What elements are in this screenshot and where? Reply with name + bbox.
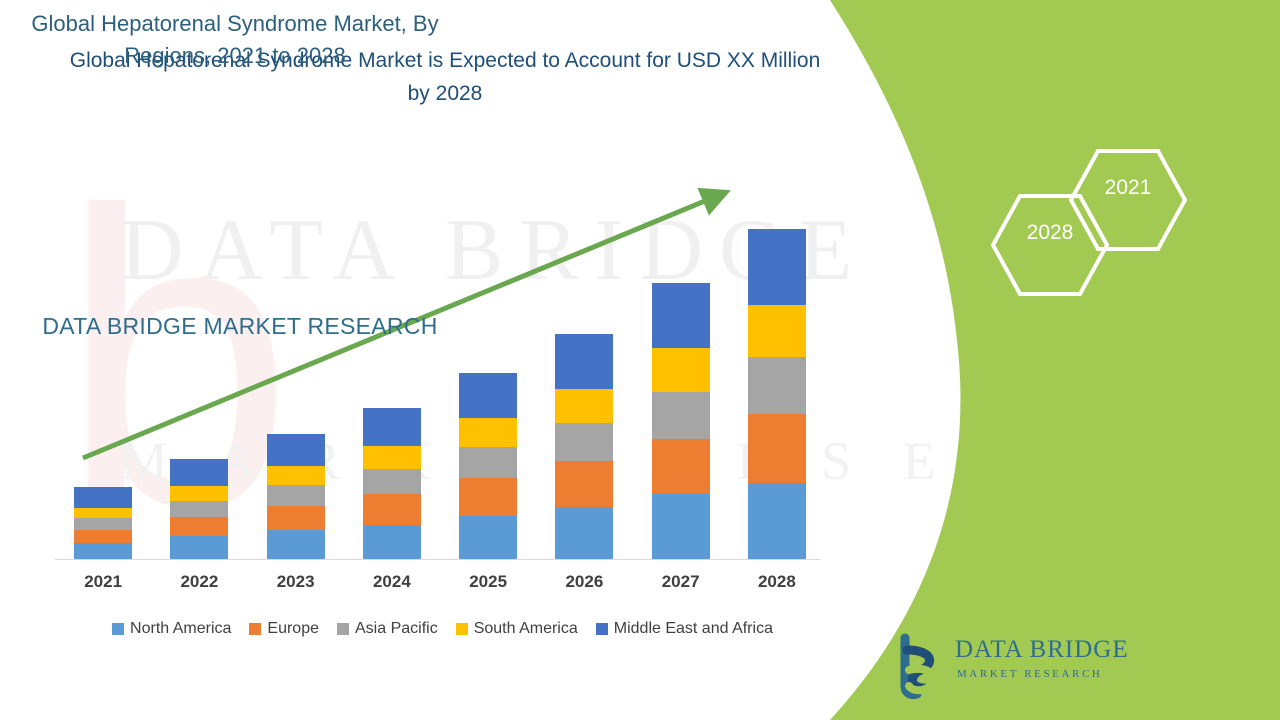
legend-label: Asia Pacific xyxy=(355,620,438,638)
bar-segment xyxy=(170,517,228,536)
x-axis-label: 2026 xyxy=(539,572,629,592)
bar-segment xyxy=(748,229,806,305)
slide-root: b DATA BRIDGE M A R K E T R E S E A R C … xyxy=(0,0,1280,720)
bar-segment xyxy=(555,334,613,389)
bar-group xyxy=(267,434,325,560)
bar-segment xyxy=(74,518,132,529)
legend-swatch-icon xyxy=(337,623,349,635)
bar-segment xyxy=(74,543,132,559)
bar-segment xyxy=(170,501,228,517)
bar-segment xyxy=(459,516,517,559)
bar-segment xyxy=(363,469,421,495)
legend-swatch-icon xyxy=(112,623,124,635)
bar-segment xyxy=(652,392,710,440)
x-axis-label: 2024 xyxy=(347,572,437,592)
legend-swatch-icon xyxy=(249,623,261,635)
x-axis-label: 2021 xyxy=(58,572,148,592)
bar-group xyxy=(459,373,517,559)
bar-segment xyxy=(652,348,710,392)
x-axis-label: 2027 xyxy=(636,572,726,592)
bar-segment xyxy=(555,389,613,423)
bar-segment xyxy=(363,525,421,559)
bar-segment xyxy=(459,447,517,478)
bar-segment xyxy=(74,508,132,518)
bar-segment xyxy=(267,485,325,506)
bar-segment xyxy=(555,423,613,461)
bar-segment xyxy=(555,507,613,559)
legend-swatch-icon xyxy=(596,623,608,635)
x-axis-label: 2028 xyxy=(732,572,822,592)
hexagon-2028-label: 2028 xyxy=(990,221,1110,245)
bar-group xyxy=(363,408,421,559)
legend-item[interactable]: North America xyxy=(112,620,231,638)
legend-swatch-icon xyxy=(456,623,468,635)
logo-mark-icon xyxy=(885,630,955,700)
bar-segment xyxy=(748,357,806,414)
bar-segment xyxy=(267,530,325,559)
right-green-panel xyxy=(830,0,1280,720)
bar-group xyxy=(170,459,228,559)
bar-segment xyxy=(459,373,517,419)
bar-segment xyxy=(748,414,806,482)
bar-segment xyxy=(363,494,421,524)
bar-segment xyxy=(170,486,228,501)
hexagon-2021-label: 2021 xyxy=(1068,176,1188,200)
bar-group xyxy=(652,283,710,559)
bar-segment xyxy=(652,283,710,348)
x-axis-labels: 20212022202320242025202620272028 xyxy=(55,572,825,598)
bar-segment xyxy=(363,446,421,469)
bar-segment xyxy=(459,478,517,516)
bar-segment xyxy=(267,466,325,485)
chart-legend: North AmericaEuropeAsia PacificSouth Ame… xyxy=(55,617,830,641)
bar-segment xyxy=(652,494,710,559)
x-axis-label: 2022 xyxy=(154,572,244,592)
bar-segment xyxy=(652,439,710,494)
legend-label: North America xyxy=(130,620,231,638)
x-axis-label: 2025 xyxy=(443,572,533,592)
bar-segment xyxy=(170,459,228,486)
bar-group xyxy=(74,487,132,559)
panel-title: Global Hepatorenal Syndrome Market, By R… xyxy=(20,8,450,72)
bar-chart-plot xyxy=(55,150,825,559)
legend-label: Europe xyxy=(267,620,319,638)
bar-segment xyxy=(74,487,132,508)
x-axis-label: 2023 xyxy=(251,572,341,592)
legend-item[interactable]: Europe xyxy=(249,620,319,638)
bar-segment xyxy=(267,434,325,466)
legend-item[interactable]: Middle East and Africa xyxy=(596,620,773,638)
bar-group xyxy=(748,229,806,559)
legend-item[interactable]: Asia Pacific xyxy=(337,620,438,638)
legend-item[interactable]: South America xyxy=(456,620,578,638)
brand-name: DATA BRIDGE MARKET RESEARCH xyxy=(30,310,450,343)
bar-segment xyxy=(555,461,613,507)
bar-segment xyxy=(459,418,517,447)
bar-segment xyxy=(170,536,228,559)
bar-segment xyxy=(267,506,325,531)
bar-segment xyxy=(363,408,421,446)
legend-label: South America xyxy=(474,620,578,638)
legend-label: Middle East and Africa xyxy=(614,620,773,638)
logo-text-sub: MARKET RESEARCH xyxy=(957,668,1102,680)
bar-group xyxy=(555,334,613,559)
company-logo: DATA BRIDGE MARKET RESEARCH xyxy=(885,630,1225,710)
bar-segment xyxy=(74,530,132,543)
x-axis-line xyxy=(55,559,820,560)
bar-segment xyxy=(748,483,806,559)
bar-segment xyxy=(748,305,806,357)
logo-text-main: DATA BRIDGE xyxy=(955,636,1129,664)
